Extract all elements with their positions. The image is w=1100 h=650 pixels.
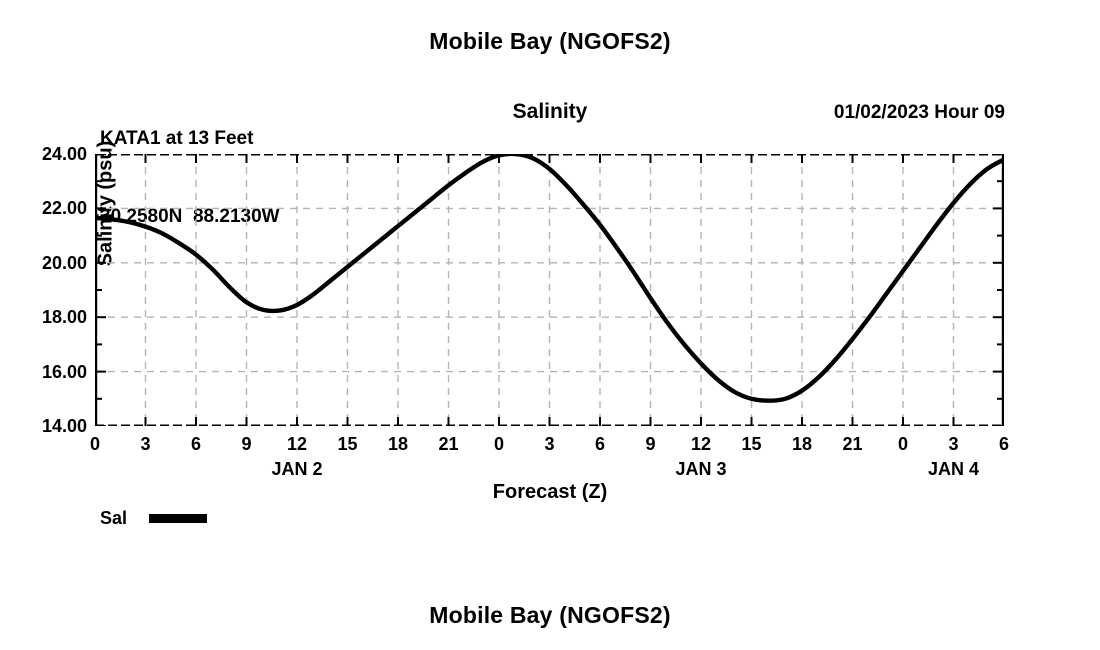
- forecast-timestamp: 01/02/2023 Hour 09: [834, 102, 1005, 124]
- legend-item-label: Sal: [100, 508, 127, 529]
- x-axis-day-label: JAN 2: [227, 459, 367, 480]
- x-axis-tick-label: 3: [126, 434, 166, 455]
- x-axis-tick-label: 6: [176, 434, 216, 455]
- x-axis-day-label: JAN 3: [631, 459, 771, 480]
- x-axis-tick-label: 6: [984, 434, 1024, 455]
- x-axis-tick-label: 9: [227, 434, 267, 455]
- x-axis-label: Forecast (Z): [0, 481, 1100, 504]
- chart-page: Mobile Bay (NGOFS2) KATA1 at 13 Feet 30.…: [0, 0, 1100, 650]
- y-axis-tick-label: 22.00: [0, 199, 87, 217]
- plot-area: [95, 154, 1004, 426]
- y-axis-tick-label: 14.00: [0, 417, 87, 435]
- x-axis-tick-label: 9: [631, 434, 671, 455]
- legend-line-swatch: [149, 514, 207, 523]
- page-title-top: Mobile Bay (NGOFS2): [0, 28, 1100, 55]
- x-axis-tick-label: 15: [732, 434, 772, 455]
- x-axis-tick-label: 18: [378, 434, 418, 455]
- x-axis-tick-label: 3: [530, 434, 570, 455]
- chart-legend: Sal: [100, 508, 207, 529]
- x-axis-tick-label: 15: [328, 434, 368, 455]
- y-axis-tick-label: 18.00: [0, 308, 87, 326]
- x-axis-tick-label: 0: [479, 434, 519, 455]
- x-axis-tick-label: 12: [277, 434, 317, 455]
- station-name-line: KATA1 at 13 Feet: [100, 126, 280, 152]
- x-axis-day-label: JAN 4: [884, 459, 1024, 480]
- y-axis-tick-label: 16.00: [0, 363, 87, 381]
- salinity-line-chart: [95, 154, 1004, 426]
- x-axis-tick-label: 6: [580, 434, 620, 455]
- x-axis-tick-label: 0: [75, 434, 115, 455]
- x-axis-tick-label: 12: [681, 434, 721, 455]
- x-axis-tick-label: 21: [833, 434, 873, 455]
- x-axis-tick-label: 21: [429, 434, 469, 455]
- page-title-bottom: Mobile Bay (NGOFS2): [0, 602, 1100, 629]
- x-axis-tick-label: 0: [883, 434, 923, 455]
- x-axis-tick-label: 18: [782, 434, 822, 455]
- y-axis-tick-label: 20.00: [0, 254, 87, 272]
- y-axis-tick-label: 24.00: [0, 145, 87, 163]
- x-axis-tick-label: 3: [934, 434, 974, 455]
